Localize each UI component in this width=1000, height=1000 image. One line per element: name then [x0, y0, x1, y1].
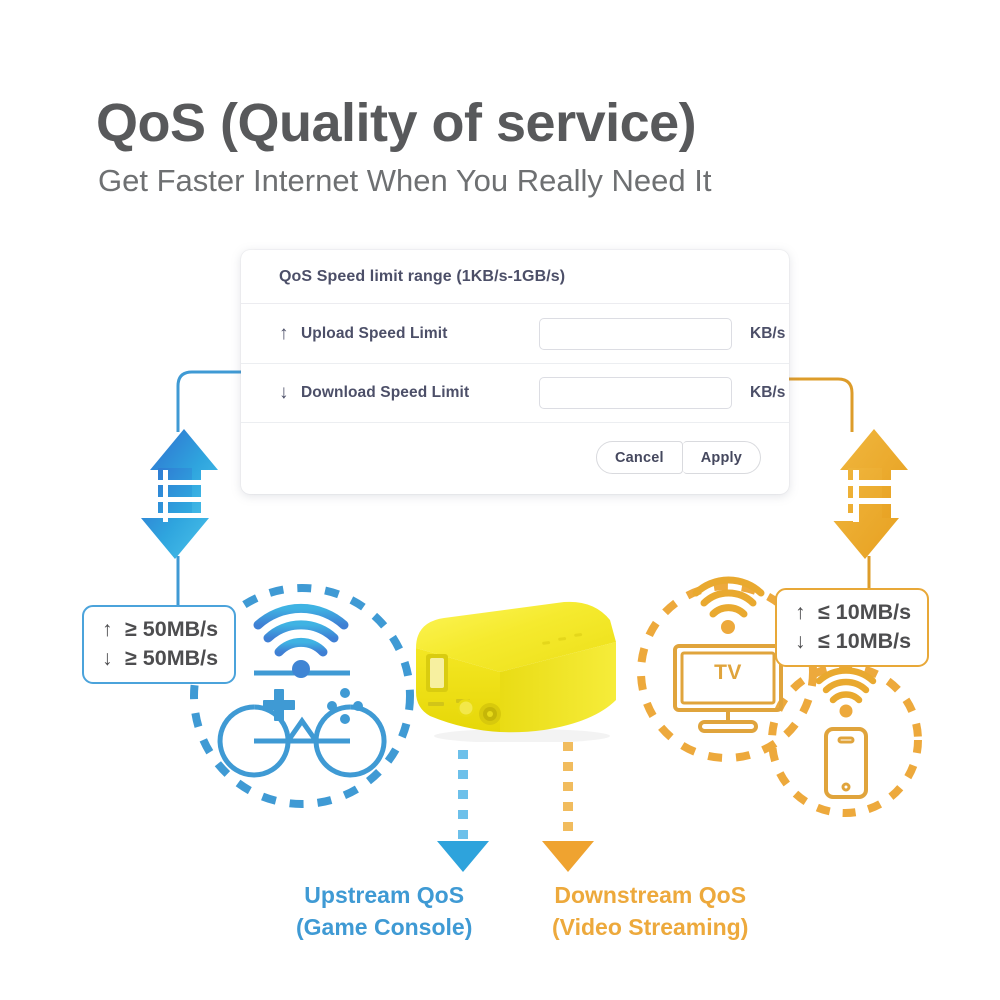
game-controller-dpad-icon: [263, 688, 363, 724]
downstream-badge-line: ↑ ≤ 10MB/s: [795, 600, 911, 625]
arrow-up-icon: ↑: [795, 601, 809, 625]
upstream-caption-line2: (Game Console): [296, 912, 472, 944]
downstream-dotted-arrow: [542, 742, 594, 872]
downstream-badge-line: ↓ ≤ 10MB/s: [795, 629, 911, 654]
downstream-caption-line2: (Video Streaming): [552, 912, 748, 944]
upstream-download-value: ≥ 50MB/s: [125, 646, 218, 671]
page-subtitle: Get Faster Internet When You Really Need…: [98, 163, 711, 199]
upstream-arrows-icon: [141, 429, 219, 559]
qos-dialog: QoS Speed limit range (1KB/s-1GB/s) ↑ Up…: [241, 250, 789, 494]
download-speed-unit: KB/s: [750, 384, 785, 402]
phone-circle: [772, 667, 918, 813]
downstream-speed-badge: ↑ ≤ 10MB/s ↓ ≤ 10MB/s: [775, 588, 929, 667]
router-device: [404, 596, 630, 742]
download-speed-label: Download Speed Limit: [301, 384, 539, 402]
wifi-icon-console: [258, 608, 344, 678]
tv-icon: [675, 646, 781, 731]
qos-infographic: QoS (Quality of service) Get Faster Inte…: [0, 0, 1000, 1000]
upload-speed-row: ↑ Upload Speed Limit KB/s: [241, 304, 789, 363]
upstream-badge-line: ↓ ≥ 50MB/s: [102, 646, 218, 671]
wire-upstream-top: [178, 372, 241, 432]
download-speed-row: ↓ Download Speed Limit KB/s: [241, 363, 789, 422]
wifi-icon-tv: [696, 580, 761, 634]
game-controller-icon: [220, 673, 384, 775]
smartphone-icon: [826, 729, 866, 797]
upload-speed-unit: KB/s: [750, 325, 785, 343]
cancel-button[interactable]: Cancel: [596, 441, 683, 474]
dialog-footer: Cancel Apply: [241, 422, 789, 492]
dialog-title: QoS Speed limit range (1KB/s-1GB/s): [279, 268, 565, 286]
upload-speed-label: Upload Speed Limit: [301, 325, 539, 343]
wire-downstream-top: [789, 379, 852, 432]
arrow-up-icon: ↑: [279, 323, 301, 345]
downstream-caption-line1: Downstream QoS: [552, 880, 748, 912]
downstream-upload-value: ≤ 10MB/s: [818, 600, 911, 625]
apply-button[interactable]: Apply: [683, 441, 761, 474]
arrow-up-icon: ↑: [102, 618, 116, 642]
upstream-caption: Upstream QoS (Game Console): [296, 880, 472, 943]
dialog-header: QoS Speed limit range (1KB/s-1GB/s): [241, 250, 789, 304]
downstream-arrows-icon: [831, 429, 909, 559]
upstream-speed-badge: ↑ ≥ 50MB/s ↓ ≥ 50MB/s: [82, 605, 236, 684]
wifi-icon-phone: [819, 671, 873, 718]
arrow-down-icon: ↓: [102, 647, 116, 671]
downstream-download-value: ≤ 10MB/s: [818, 629, 911, 654]
upstream-upload-value: ≥ 50MB/s: [125, 617, 218, 642]
upload-speed-input[interactable]: [539, 318, 732, 350]
upstream-badge-line: ↑ ≥ 50MB/s: [102, 617, 218, 642]
page-title: QoS (Quality of service): [96, 92, 696, 154]
upstream-caption-line1: Upstream QoS: [296, 880, 472, 912]
tv-label: TV: [695, 661, 761, 685]
download-speed-input[interactable]: [539, 377, 732, 409]
arrow-down-icon: ↓: [795, 630, 809, 654]
downstream-caption: Downstream QoS (Video Streaming): [552, 880, 748, 943]
upstream-dotted-arrow: [437, 750, 489, 872]
arrow-down-icon: ↓: [279, 382, 301, 404]
